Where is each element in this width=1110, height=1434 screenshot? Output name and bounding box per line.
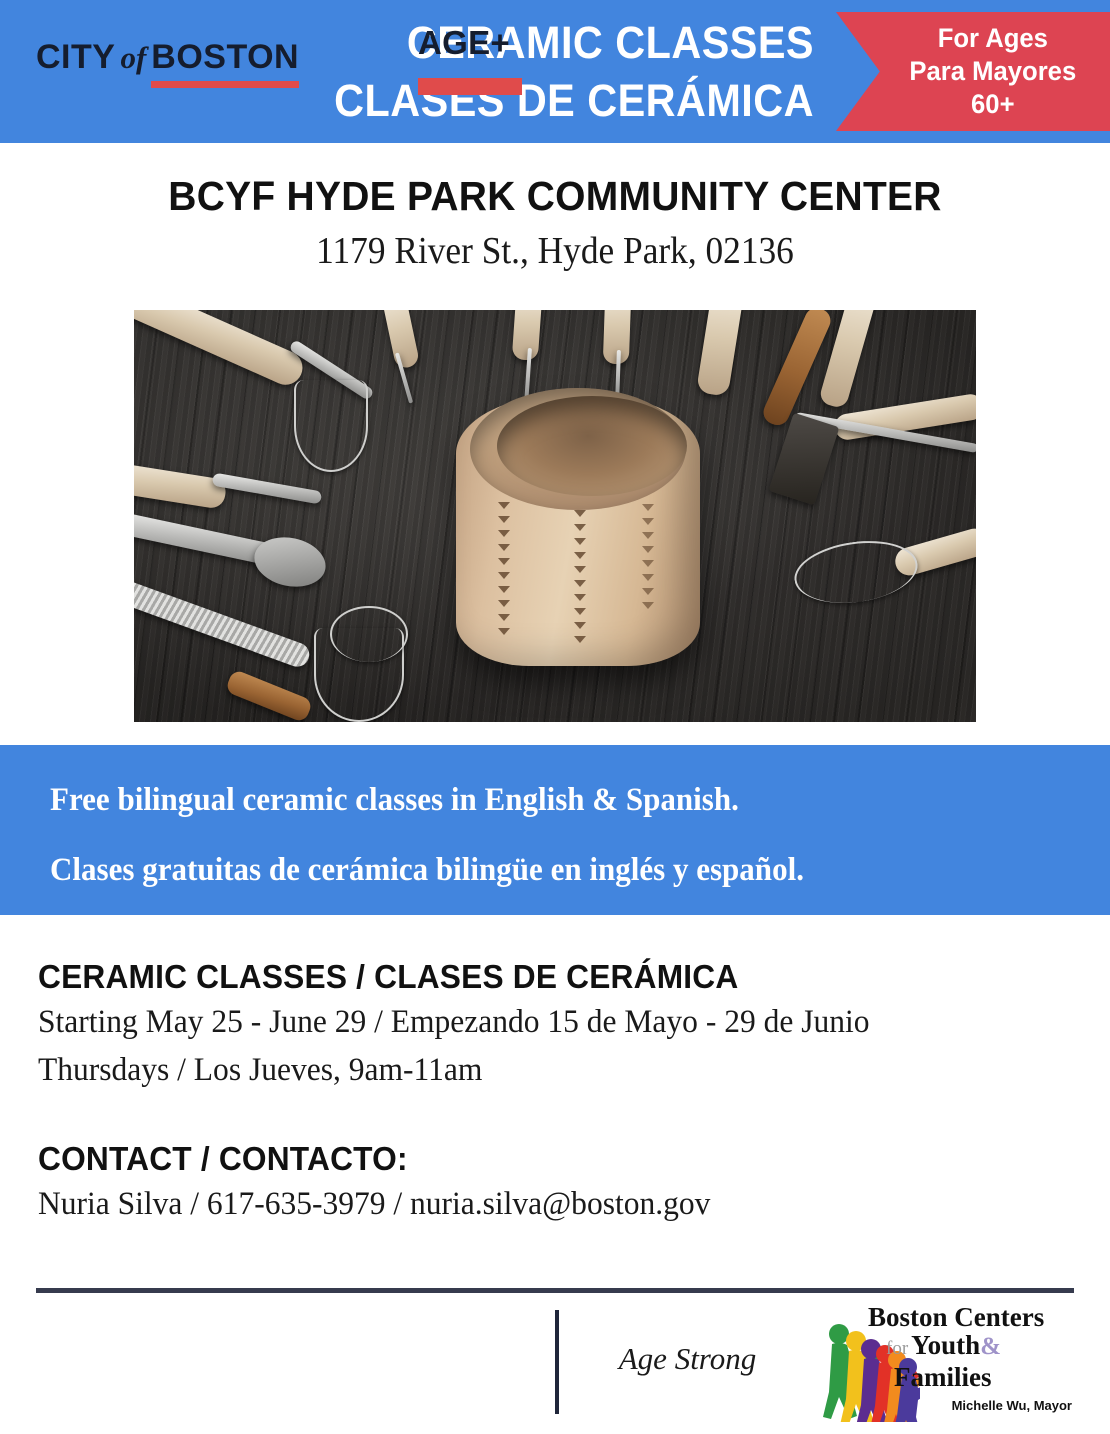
- age-ribbon-text: For Ages Para Mayores 60+: [910, 22, 1077, 121]
- venue-block: BCYF HYDE PARK COMMUNITY CENTER 1179 Riv…: [0, 143, 1110, 273]
- bcyf-line-for-youth: forYouth&: [868, 1331, 1076, 1363]
- age-plus-logo: AGE+: [418, 24, 522, 95]
- contact-heading: CONTACT / CONTACTO:: [38, 1140, 1046, 1178]
- details-times: Thursdays / Los Jueves, 9am-11am: [38, 1048, 1041, 1092]
- city-logo-city-word: CITY: [36, 38, 115, 76]
- venue-address: 1179 River St., Hyde Park, 02136: [39, 229, 1071, 273]
- bcyf-logo: Boston Centers forYouth& Families Michel…: [812, 1300, 1077, 1430]
- bcyf-line-families: Families: [868, 1363, 1076, 1392]
- info-line-spanish: Clases gratuitas de cerámica bilingüe en…: [50, 851, 1046, 889]
- details-dates: Starting May 25 - June 29 / Empezando 15…: [38, 1000, 1041, 1044]
- contact-section: CONTACT / CONTACTO: Nuria Silva / 617-63…: [38, 1140, 1088, 1226]
- bcyf-ampersand: &: [980, 1333, 1001, 1360]
- ribbon-line-for-ages: For Ages: [910, 22, 1077, 55]
- info-line-english: Free bilingual ceramic classes in Englis…: [50, 781, 1046, 819]
- details-section: CERAMIC CLASSES / CLASES DE CERÁMICA Sta…: [38, 958, 1088, 1226]
- wire-loop-left-mid: [330, 606, 408, 662]
- bcyf-line-boston-centers: Boston Centers: [868, 1304, 1076, 1331]
- age-plus-wordmark: AGE+: [418, 24, 522, 62]
- city-logo-boston-word: BOSTON: [151, 38, 299, 77]
- clay-pot-rim: [470, 388, 686, 510]
- ceramic-photo: [134, 310, 976, 722]
- footer-divider: [36, 1288, 1074, 1293]
- ribbon-line-age-number: 60+: [910, 88, 1077, 121]
- age-plus-red-bar: [418, 78, 522, 95]
- footer-vertical-separator: [555, 1310, 559, 1414]
- bcyf-youth-word: Youth: [911, 1330, 980, 1360]
- clay-pot: [456, 394, 700, 666]
- bilingual-info-band: Free bilingual ceramic classes in Englis…: [0, 745, 1110, 915]
- clay-pot-interior: [497, 396, 687, 496]
- wire-loop-topleft: [294, 380, 368, 472]
- city-logo-of-word: of: [115, 40, 151, 75]
- pot-chevron-column-center: [574, 510, 586, 650]
- pot-chevron-column-left: [498, 502, 510, 642]
- venue-name: BCYF HYDE PARK COMMUNITY CENTER: [28, 173, 1083, 220]
- bcyf-wordmark: Boston Centers forYouth& Families Michel…: [868, 1304, 1076, 1413]
- details-heading: CERAMIC CLASSES / CLASES DE CERÁMICA: [38, 958, 1046, 996]
- bcyf-mayor-credit: Michelle Wu, Mayor: [868, 1392, 1076, 1413]
- age-ribbon-badge: For Ages Para Mayores 60+: [836, 12, 1110, 131]
- pot-chevron-column-right: [642, 504, 654, 616]
- age-strong-logo: Age Strong: [580, 1341, 795, 1377]
- ribbon-line-para-mayores: Para Mayores: [910, 55, 1077, 88]
- city-of-boston-logo: CITYofBOSTON: [36, 38, 299, 77]
- contact-line[interactable]: Nuria Silva / 617-635-3979 / nuria.silva…: [38, 1182, 1041, 1226]
- bcyf-for-word: for: [886, 1338, 911, 1359]
